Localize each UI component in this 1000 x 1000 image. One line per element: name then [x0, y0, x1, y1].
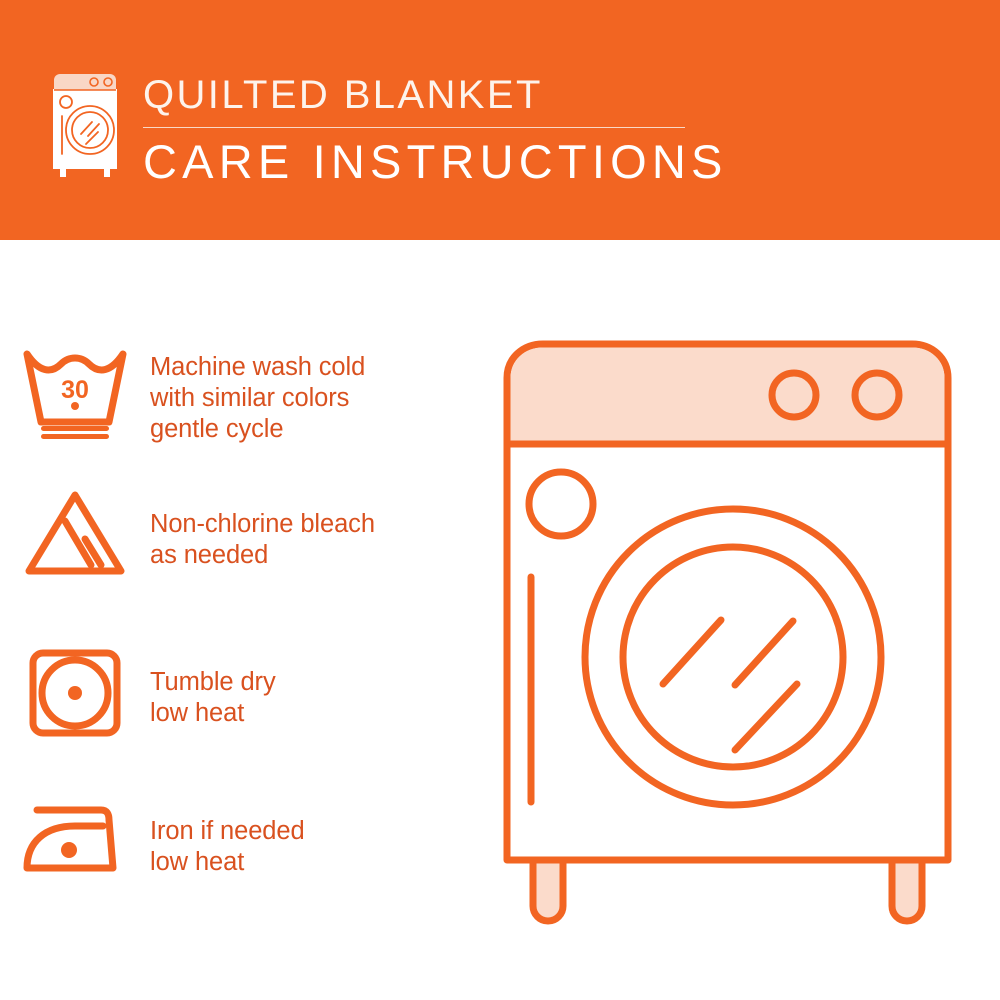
tumble-dry-icon	[0, 645, 150, 741]
bleach-triangle-icon	[0, 487, 150, 579]
washer-leg-right	[892, 860, 922, 921]
instruction-label-bleach: Non-chlorine bleach as needed	[150, 487, 375, 571]
wash-tub-icon: 30	[0, 344, 150, 440]
washer-leg-left	[533, 860, 563, 921]
instruction-label-tumble-dry: Tumble dry low heat	[150, 645, 276, 729]
instruction-label-wash: Machine wash cold with similar colors ge…	[150, 344, 365, 445]
header-title-block: QUILTED BLANKET CARE INSTRUCTIONS	[143, 72, 703, 189]
header-banner: QUILTED BLANKET CARE INSTRUCTIONS	[0, 0, 1000, 240]
instruction-row-wash: 30 Machine wash cold with similar colors…	[0, 344, 500, 445]
page-subtitle: CARE INSTRUCTIONS	[143, 135, 703, 189]
wash-temperature-value: 30	[61, 376, 89, 404]
page-title: QUILTED BLANKET	[143, 72, 703, 118]
instruction-label-iron: Iron if needed low heat	[150, 796, 305, 878]
washing-machine-icon	[46, 68, 130, 180]
instructions-list: 30 Machine wash cold with similar colors…	[0, 240, 500, 1000]
instruction-row-bleach: Non-chlorine bleach as needed	[0, 487, 500, 579]
title-divider	[143, 127, 685, 128]
instruction-row-iron: Iron if needed low heat	[0, 796, 500, 878]
washer-control-panel	[511, 348, 945, 445]
iron-icon	[0, 796, 150, 878]
front-load-washing-machine-illustration	[495, 332, 960, 932]
instruction-row-tumble-dry: Tumble dry low heat	[0, 645, 500, 741]
